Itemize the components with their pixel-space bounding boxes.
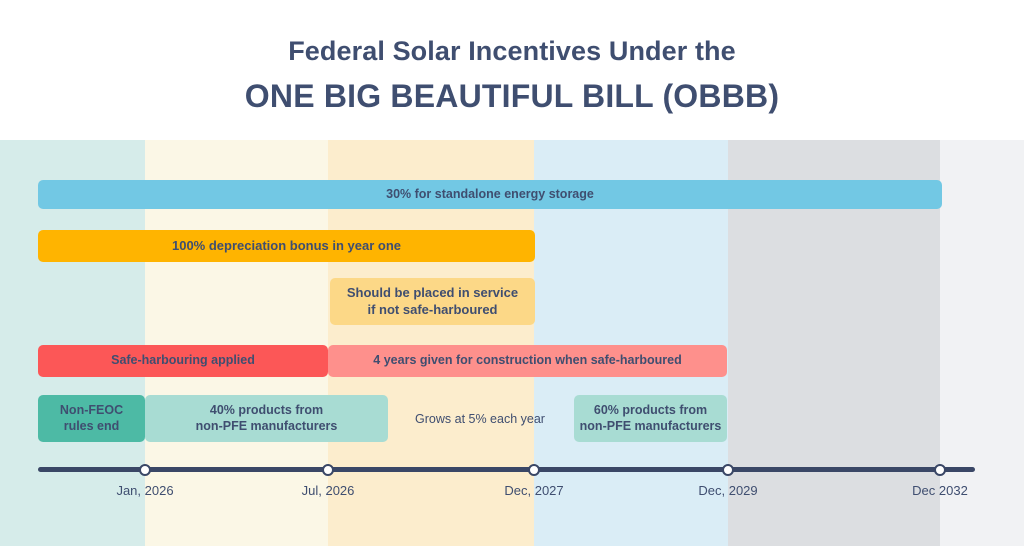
axis-tick-dot-2[interactable] (528, 464, 540, 476)
sixty-percent-products-box[interactable]: 60% products fromnon-PFE manufacturers (574, 395, 727, 442)
page-header: Federal Solar Incentives Under the ONE B… (0, 0, 1024, 140)
four-years-construction-bar[interactable]: 4 years given for construction when safe… (328, 345, 727, 377)
safe-harbouring-applied-bar-label: Safe-harbouring applied (111, 353, 255, 369)
axis-tick-label-0: Jan, 2026 (116, 483, 173, 498)
axis-tick-label-1: Jul, 2026 (302, 483, 355, 498)
page-title-line2: ONE BIG BEAUTIFUL BILL (OBBB) (0, 78, 1024, 115)
axis-tick-label-4: Dec 2032 (912, 483, 968, 498)
storage-credit-bar-label: 30% for standalone energy storage (386, 187, 594, 203)
timeline-chart: 30% for standalone energy storage100% de… (0, 140, 1024, 546)
axis-tick-label-2: Dec, 2027 (504, 483, 563, 498)
storage-credit-bar[interactable]: 30% for standalone energy storage (38, 180, 942, 209)
placed-in-service-box[interactable]: Should be placed in serviceif not safe-h… (330, 278, 535, 325)
forty-percent-products-box[interactable]: 40% products fromnon-PFE manufacturers (145, 395, 388, 442)
non-feoc-rules-end-box[interactable]: Non-FEOCrules end (38, 395, 145, 442)
placed-in-service-box-label: Should be placed in serviceif not safe-h… (347, 285, 518, 318)
axis-tick-label-3: Dec, 2029 (698, 483, 757, 498)
non-feoc-rules-end-box-label: Non-FEOCrules end (60, 403, 123, 434)
axis-tick-dot-1[interactable] (322, 464, 334, 476)
sixty-percent-products-box-label: 60% products fromnon-PFE manufacturers (580, 403, 722, 434)
grows-each-year-label: Grows at 5% each year (400, 395, 560, 442)
page-title-line1: Federal Solar Incentives Under the (0, 36, 1024, 67)
four-years-construction-bar-label: 4 years given for construction when safe… (373, 353, 681, 369)
depreciation-bonus-bar[interactable]: 100% depreciation bonus in year one (38, 230, 535, 262)
axis-tick-dot-0[interactable] (139, 464, 151, 476)
axis-tick-dot-4[interactable] (934, 464, 946, 476)
depreciation-bonus-bar-label: 100% depreciation bonus in year one (172, 238, 401, 254)
axis-tick-dot-3[interactable] (722, 464, 734, 476)
axis-line (38, 467, 975, 472)
safe-harbouring-applied-bar[interactable]: Safe-harbouring applied (38, 345, 328, 377)
forty-percent-products-box-label: 40% products fromnon-PFE manufacturers (196, 403, 338, 434)
